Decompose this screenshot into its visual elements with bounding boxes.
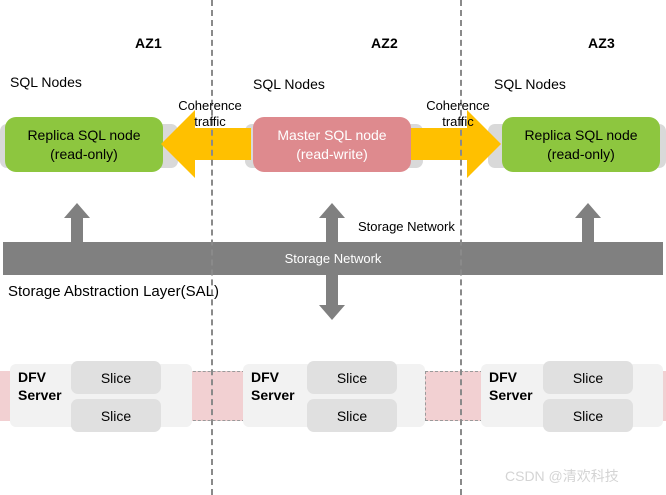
coherence-label-line1: Coherence xyxy=(416,98,500,114)
sql-node-mode: (read-only) xyxy=(50,145,118,164)
storage-abstraction-layer-label: Storage Abstraction Layer(SAL) xyxy=(8,283,219,300)
sql-node-name: Replica SQL node xyxy=(27,126,140,145)
az-label-az2: AZ2 xyxy=(371,35,398,51)
dfv-server-label-line2: Server xyxy=(18,386,62,404)
sql-node-replica-right[interactable]: Replica SQL node (read-only) xyxy=(502,117,660,172)
storage-network-bar: Storage Network xyxy=(3,242,663,275)
slice-box-1-2[interactable]: Slice xyxy=(71,399,161,432)
pink-segment-az2-az3 xyxy=(425,371,483,421)
dfv-server-label-1: DFV Server xyxy=(18,368,62,404)
slice-box-2-2[interactable]: Slice xyxy=(307,399,397,432)
sql-node-master[interactable]: Master SQL node (read-write) xyxy=(253,117,411,172)
sql-nodes-label-az2: SQL Nodes xyxy=(253,76,325,92)
architecture-diagram: AZ1 AZ2 AZ3 SQL Nodes SQL Nodes SQL Node… xyxy=(0,0,666,495)
watermark-label: CSDN @清欢科技 xyxy=(505,466,619,486)
slice-box-3-2[interactable]: Slice xyxy=(543,399,633,432)
sql-node-mode: (read-write) xyxy=(296,145,368,164)
dfv-server-label-2: DFV Server xyxy=(251,368,295,404)
coherence-label-line1: Coherence xyxy=(168,98,252,114)
slice-box-3-1[interactable]: Slice xyxy=(543,361,633,394)
storage-network-bar-label: Storage Network xyxy=(285,251,382,266)
az-label-az3: AZ3 xyxy=(588,35,615,51)
dfv-server-label-line2: Server xyxy=(251,386,295,404)
pink-segment-az1-az2 xyxy=(188,371,245,421)
coherence-label-line2: traffic xyxy=(416,114,500,130)
sql-node-name: Master SQL node xyxy=(277,126,386,145)
slice-box-1-1[interactable]: Slice xyxy=(71,361,161,394)
dfv-server-label-line1: DFV xyxy=(489,368,533,386)
dfv-server-label-line2: Server xyxy=(489,386,533,404)
zone-divider-az1-az2 xyxy=(211,0,213,495)
coherence-label-left: Coherence traffic xyxy=(168,98,252,130)
coherence-label-line2: traffic xyxy=(168,114,252,130)
az-label-az1: AZ1 xyxy=(135,35,162,51)
sql-nodes-label-az1: SQL Nodes xyxy=(10,74,82,90)
storage-network-side-label: Storage Network xyxy=(358,219,455,234)
sql-nodes-label-az3: SQL Nodes xyxy=(494,76,566,92)
sql-node-name: Replica SQL node xyxy=(524,126,637,145)
dfv-server-label-3: DFV Server xyxy=(489,368,533,404)
dfv-server-label-line1: DFV xyxy=(251,368,295,386)
sql-node-replica-left[interactable]: Replica SQL node (read-only) xyxy=(5,117,163,172)
sql-node-mode: (read-only) xyxy=(547,145,615,164)
zone-divider-az2-az3 xyxy=(460,0,462,495)
dfv-server-label-line1: DFV xyxy=(18,368,62,386)
coherence-label-right: Coherence traffic xyxy=(416,98,500,130)
slice-box-2-1[interactable]: Slice xyxy=(307,361,397,394)
